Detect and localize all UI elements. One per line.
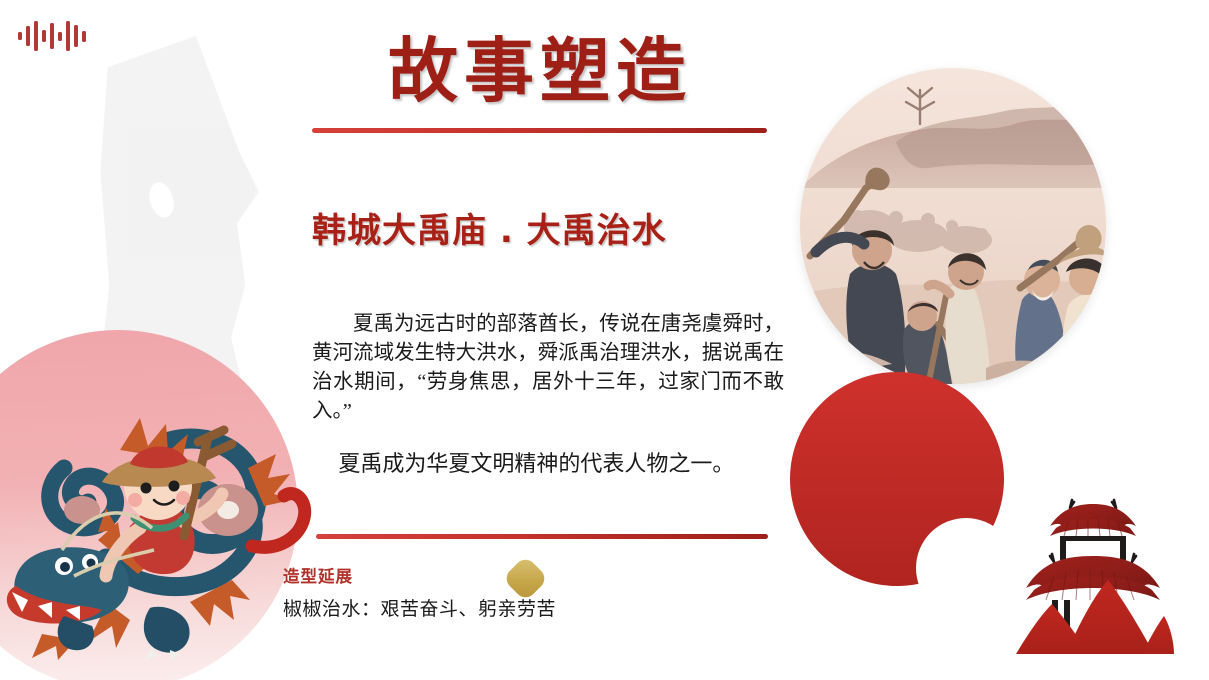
waveform-logo[interactable] (18, 16, 98, 56)
extension-text: 椒椒治水：艰苦奋斗、躬亲劳苦 (283, 594, 556, 621)
slide-canvas: 故事塑造 韩城大禹庙 . 大禹治水 夏禹为远古时的部落酋长，传说在唐尧虞舜时，黄… (0, 0, 1209, 680)
waveform-bar (18, 32, 22, 40)
title-divider (312, 128, 767, 133)
waveform-bar (42, 30, 46, 42)
waveform-bar (34, 21, 38, 51)
extension-label: 造型延展 (283, 563, 353, 587)
footer-divider (316, 534, 768, 539)
story-painting (800, 68, 1106, 384)
red-circle-decoration (790, 372, 1005, 587)
waveform-bar (74, 25, 78, 47)
page-title: 故事塑造 (300, 30, 780, 115)
body-text: 夏禹为远古时的部落酋长，传说在唐尧虞舜时，黄河流域发生特大洪水，舜派禹治理洪水，… (312, 310, 784, 480)
mascot-illustration (2, 390, 312, 660)
waveform-bar (50, 23, 54, 49)
waveform-bar (66, 21, 70, 51)
waveform-bar (26, 26, 30, 46)
section-subtitle: 韩城大禹庙 . 大禹治水 (312, 203, 782, 252)
waveform-bar (82, 31, 86, 42)
waveform-bar (58, 32, 62, 41)
body-paragraph-2: 夏禹成为华夏文明精神的代表人物之一。 (312, 448, 784, 479)
body-paragraph-1: 夏禹为远古时的部落酋长，传说在唐尧虞舜时，黄河流域发生特大洪水，舜派禹治理洪水，… (312, 310, 784, 426)
pagoda-illustration (994, 492, 1174, 654)
